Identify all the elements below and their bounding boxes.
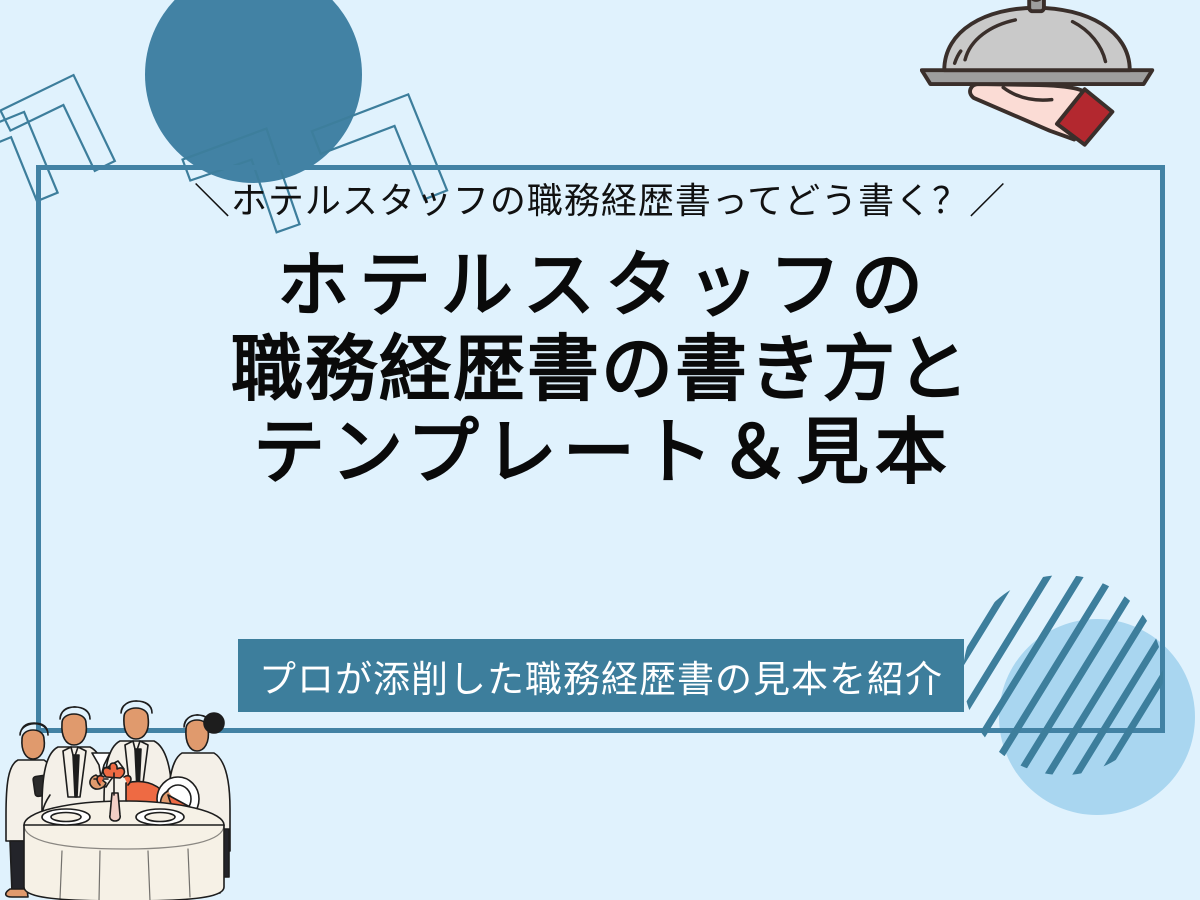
eyebrow-text: ＼ホテルスタッフの職務経歴書ってどう書く？／ (0, 180, 1200, 221)
headline: ホテルスタッフの 職務経歴書の書き方と テンプレート＆見本 (0, 245, 1200, 496)
title-block: ＼ホテルスタッフの職務経歴書ってどう書く？／ ホテルスタッフの 職務経歴書の書き… (0, 180, 1200, 496)
hotel-staff-illustration (0, 665, 260, 900)
headline-line-1: ホテルスタッフの (0, 245, 1200, 329)
headline-line-3: テンプレート＆見本 (0, 412, 1200, 496)
sub-banner-text: プロが添削した職務経歴書の見本を紹介 (259, 649, 943, 703)
decorative-circle-top (145, 0, 362, 183)
hand-holding-cloche-illustration (920, 0, 1180, 175)
cloche-dome (944, 8, 1129, 70)
tray-rim (922, 70, 1153, 84)
sub-banner: プロが添削した職務経歴書の見本を紹介 (238, 639, 964, 712)
headline-line-2: 職務経歴書の書き方と (0, 329, 1200, 413)
article-thumbnail-banner: ＼ホテルスタッフの職務経歴書ってどう書く？／ ホテルスタッフの 職務経歴書の書き… (0, 0, 1200, 900)
